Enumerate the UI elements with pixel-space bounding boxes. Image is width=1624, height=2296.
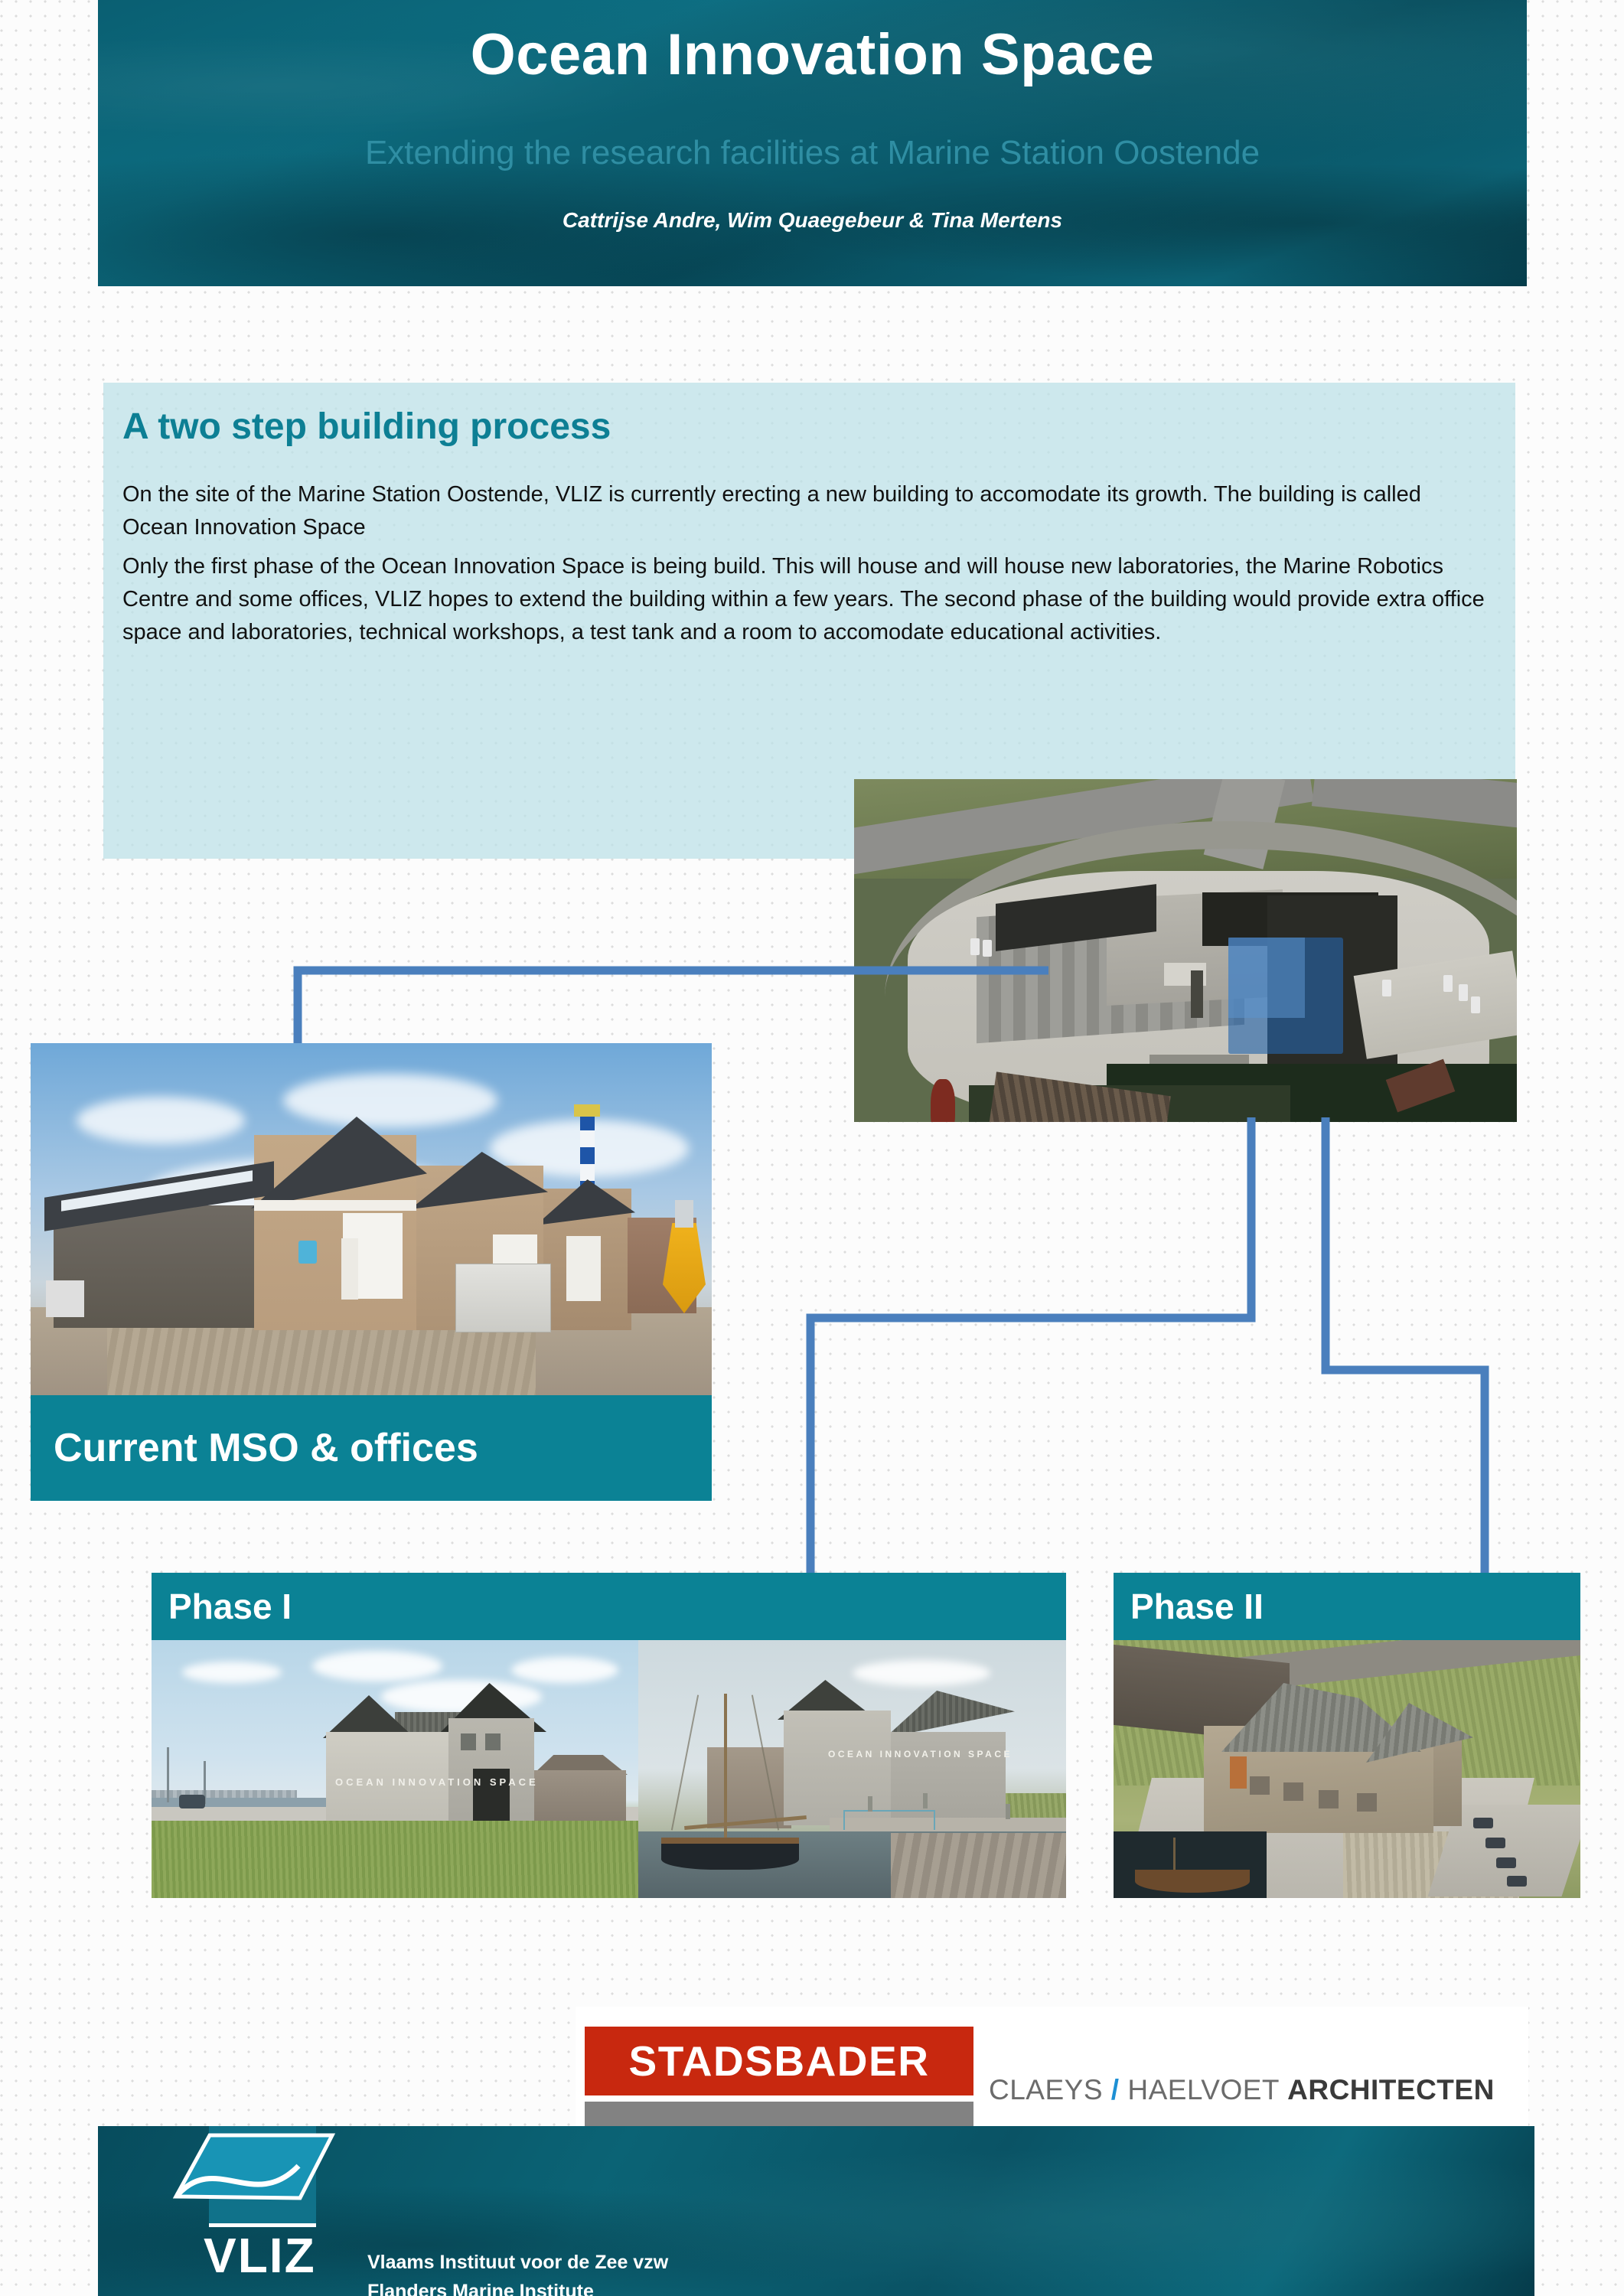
architect-suffix: ARCHITECTEN [1287,2074,1495,2105]
boat-mast [1173,1838,1176,1874]
architect-separator: / [1111,2074,1120,2105]
intro-body: On the site of the Marine Station Oosten… [122,478,1492,655]
aerial-car [1382,980,1391,996]
intro-paragraph-1: On the site of the Marine Station Oosten… [122,478,1492,544]
facade-sign-text: OCEAN INNOVATION SPACE [335,1776,539,1788]
vliz-name-en: Flanders Marine Institute [367,2278,668,2296]
car [1496,1857,1516,1868]
cloud [182,1662,282,1683]
rigging [671,1694,699,1830]
cloud [283,1074,497,1127]
person [923,1793,928,1808]
neighbour-shed [707,1747,791,1828]
aerial-car [1471,996,1480,1013]
cloud [511,1657,618,1683]
claeys-haelvoet-logo: CLAEYS / HAELVOET ARCHITECTEN [989,2074,1495,2106]
person [868,1796,872,1812]
mso-photo [31,1043,712,1395]
architect-name-2: HAELVOET [1127,2074,1279,2105]
cloud [312,1651,442,1681]
window [461,1733,476,1750]
boat-mast [724,1694,727,1841]
page-subtitle: Extending the research facilities at Mar… [98,134,1527,172]
boat-hull [661,1844,799,1870]
facade-sign-text: OCEAN INNOVATION SPACE [828,1749,1013,1760]
boat-hull [1135,1870,1250,1893]
cloud [853,1660,990,1686]
car [1473,1818,1493,1828]
intro-paragraph-2: Only the first phase of the Ocean Innova… [122,550,1492,649]
aerial-vessel [931,1079,955,1122]
phase-overlay-inner [1228,938,1305,1018]
aerial-car [1459,984,1468,1001]
vliz-institute-names: Vlaams Instituut voor de Zee vzw Flander… [367,2249,668,2296]
section-heading: A two step building process [122,406,611,448]
wall-sign [298,1241,317,1264]
roof-canopy [885,1691,1015,1738]
author-list: Cattrijse Andre, Wim Quaegebeur & Tina M… [98,208,1527,233]
person [1006,1804,1010,1819]
card-current-mso: Current MSO & offices [31,1043,712,1501]
grass-foreground [152,1821,638,1898]
stadsbader-logo: STADSBADER [585,2027,973,2129]
cloud [77,1097,245,1144]
vliz-name-nl: Vlaams Instituut voor de Zee vzw [367,2249,668,2278]
railing [843,1810,935,1830]
car [1507,1876,1527,1887]
window [1319,1790,1339,1808]
stadsbader-wordmark: STADSBADER [629,2037,930,2086]
building-main [784,1711,891,1825]
phase2-render-aerial [1114,1640,1580,1898]
accent-panel [1230,1756,1247,1789]
vliz-logo: VLIZ [174,2126,351,2284]
architect-name-1: CLAEYS [989,2074,1103,2105]
vliz-wordmark: VLIZ [204,2227,316,2284]
header-banner: Ocean Innovation Space Extending the res… [98,0,1527,286]
aerial-car [1443,975,1453,992]
mast [167,1747,169,1802]
card-phase-1: Phase I [152,1573,1066,1898]
connector-aerial-to-phase2 [1326,1117,1485,1577]
window [1283,1782,1303,1801]
poster-canvas: Ocean Innovation Space Extending the res… [0,0,1624,2296]
vliz-wave-icon [170,2126,338,2213]
mso-caption-text: Current MSO & offices [31,1425,478,1471]
quay-wall [891,1833,1066,1898]
aerial-car [970,938,980,955]
phase1-render-exterior: OCEAN INNOVATION SPACE [152,1640,638,1898]
shed [534,1770,626,1824]
aerial-site-photo [854,779,1517,1122]
lighthouse-top [574,1104,600,1117]
car [179,1795,205,1808]
phase1-caption-bar: Phase I [152,1573,1066,1640]
site-container [455,1264,551,1332]
electrical-cabinet [46,1280,84,1317]
page-title: Ocean Innovation Space [98,21,1527,88]
phase1-render-waterside: OCEAN INNOVATION SPACE [638,1640,1066,1898]
window [1357,1793,1377,1812]
phase1-caption-text: Phase I [152,1586,292,1627]
phase2-caption-bar: Phase II [1114,1573,1580,1640]
phase2-caption-text: Phase II [1114,1586,1264,1627]
footer-bar: VLIZ Vlaams Instituut voor de Zee vzw Fl… [98,2126,1534,2296]
aerial-rooftop-unit [1191,970,1203,1018]
entrance-door [341,1238,358,1300]
window [485,1733,501,1750]
garage-door [566,1236,601,1301]
window [1250,1776,1270,1795]
card-phase-2: Phase II [1114,1573,1580,1898]
partner-logo-strip: STADSBADER CLAEYS / HAELVOET ARCHITECTEN [576,2007,1528,2133]
aerial-car [983,940,992,957]
connector-aerial-to-phase1 [810,1117,1251,1577]
facade-band [254,1200,416,1211]
car [1485,1838,1505,1848]
phase2-photo-row [1114,1640,1580,1898]
buoy-solar-panel [675,1200,693,1228]
phase1-photo-row: OCEAN INNOVATION SPACE OCEAN INNOVATION … [152,1640,1066,1898]
mso-caption-bar: Current MSO & offices [31,1395,712,1501]
stadsbader-red-bar: STADSBADER [585,2027,973,2095]
